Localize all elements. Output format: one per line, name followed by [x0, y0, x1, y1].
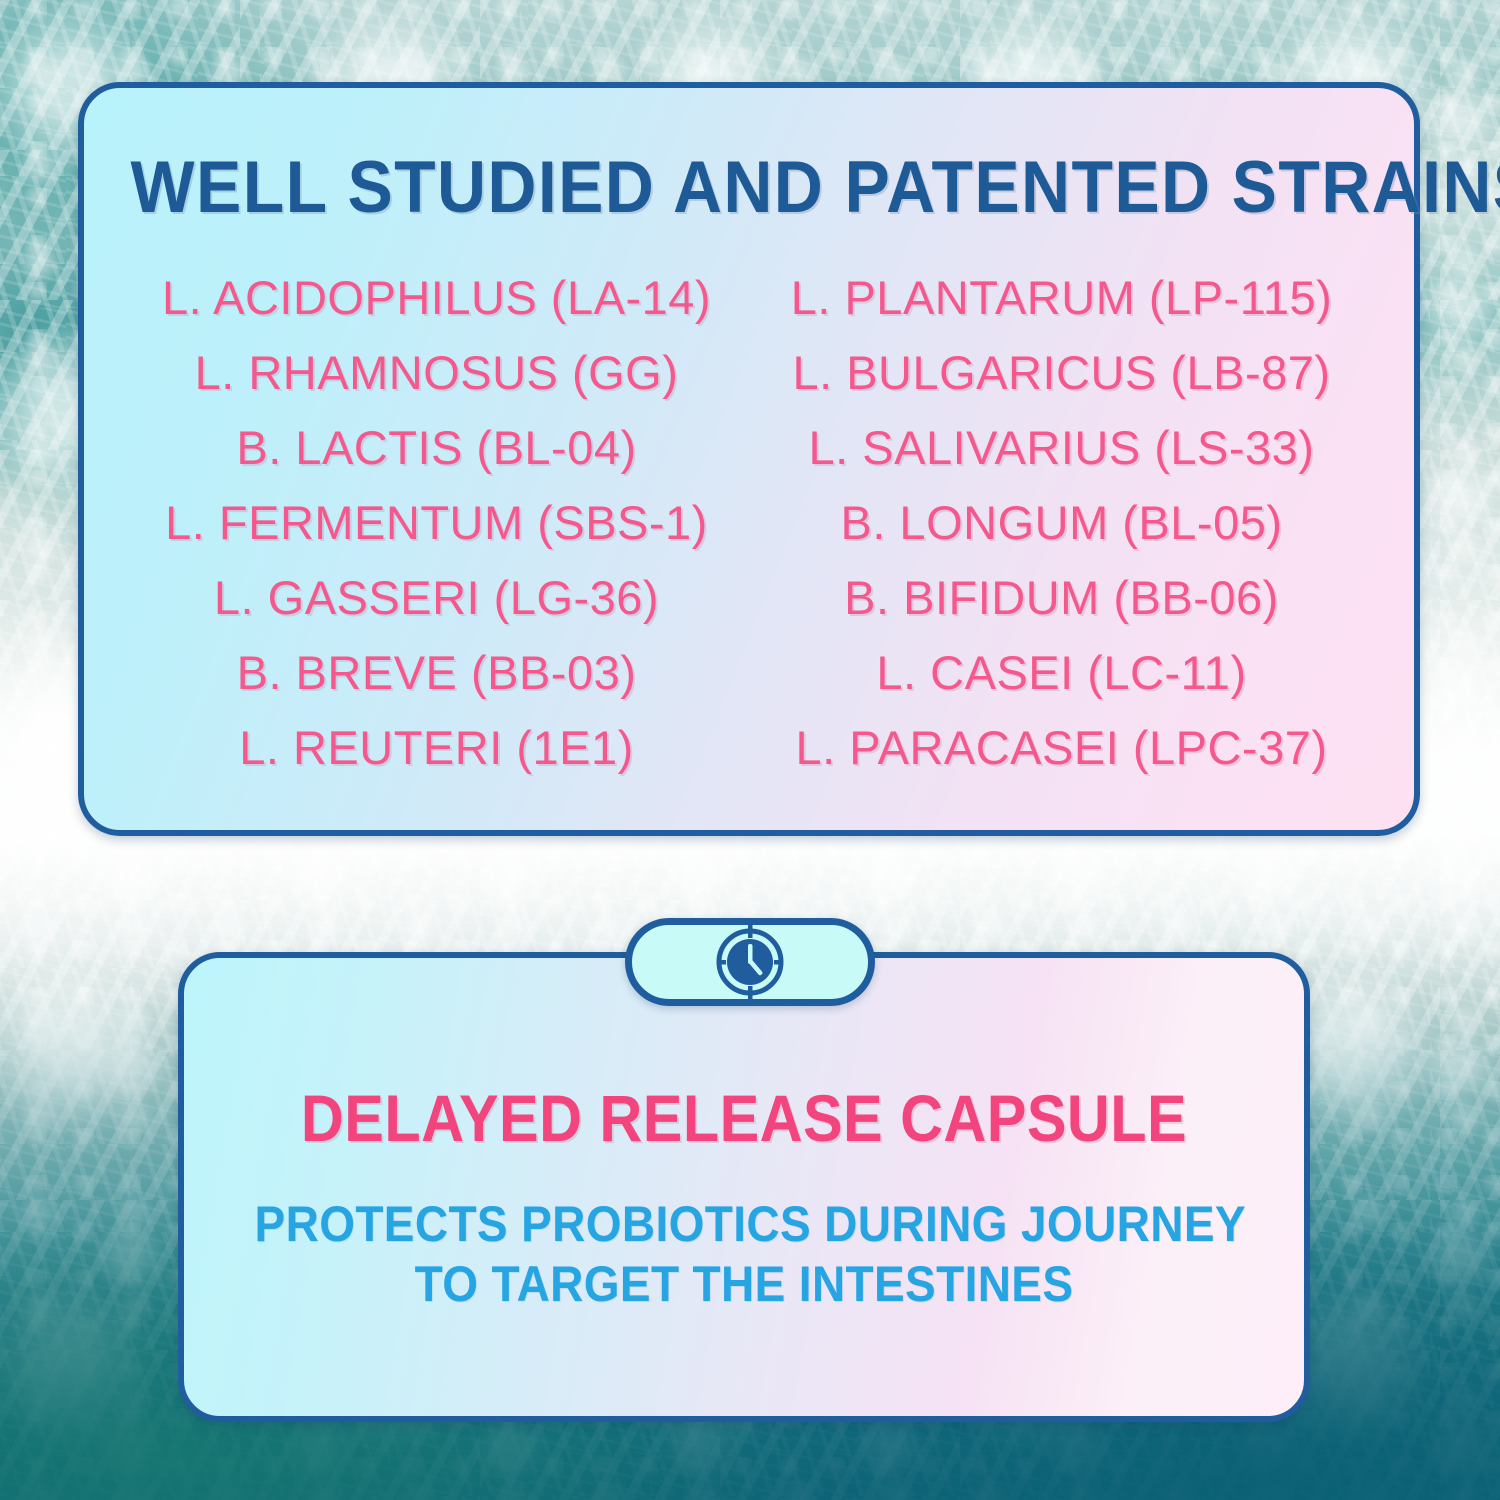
strain-item: B. LONGUM (BL-05) — [840, 485, 1282, 560]
capsule-subtitle-line-2: TO TARGET THE INTESTINES — [255, 1254, 1234, 1314]
strain-column-right: L. PLANTARUM (LP-115) L. BULGARICUS (LB-… — [749, 260, 1374, 785]
capsule-card: DELAYED RELEASE CAPSULE PROTECTS PROBIOT… — [178, 952, 1310, 1422]
clock-icon — [707, 919, 793, 1005]
strain-item: L. FERMENTUM (SBS-1) — [165, 485, 708, 560]
strain-item: B. BIFIDUM (BB-06) — [844, 560, 1279, 635]
clock-badge — [625, 918, 875, 1006]
strain-item: L. PARACASEI (LPC-37) — [795, 710, 1327, 785]
capsule-card-title: DELAYED RELEASE CAPSULE — [240, 1080, 1248, 1156]
strain-item: L. PLANTARUM (LP-115) — [791, 260, 1333, 335]
strain-item: L. SALIVARIUS (LS-33) — [809, 410, 1315, 485]
strain-item: L. CASEI (LC-11) — [876, 635, 1246, 710]
strain-item: B. BREVE (BB-03) — [237, 635, 637, 710]
strain-column-left: L. ACIDOPHILUS (LA-14) L. RHAMNOSUS (GG)… — [124, 260, 749, 785]
strains-card: WELL STUDIED AND PATENTED STRAINS L. ACI… — [78, 82, 1420, 836]
capsule-card-subtitle: PROTECTS PROBIOTICS DURING JOURNEY TO TA… — [255, 1194, 1234, 1314]
capsule-subtitle-line-1: PROTECTS PROBIOTICS DURING JOURNEY — [255, 1194, 1234, 1254]
strain-columns: L. ACIDOPHILUS (LA-14) L. RHAMNOSUS (GG)… — [124, 260, 1374, 785]
strain-item: L. BULGARICUS (LB-87) — [792, 335, 1330, 410]
strain-item: L. GASSERI (LG-36) — [214, 560, 659, 635]
strain-item: B. LACTIS (BL-04) — [236, 410, 636, 485]
strain-item: L. REUTERI (1E1) — [239, 710, 634, 785]
strain-item: L. ACIDOPHILUS (LA-14) — [162, 260, 711, 335]
poster-root: WELL STUDIED AND PATENTED STRAINS L. ACI… — [0, 0, 1500, 1500]
strain-item: L. RHAMNOSUS (GG) — [195, 335, 679, 410]
strains-card-title: WELL STUDIED AND PATENTED STRAINS — [131, 146, 1368, 229]
